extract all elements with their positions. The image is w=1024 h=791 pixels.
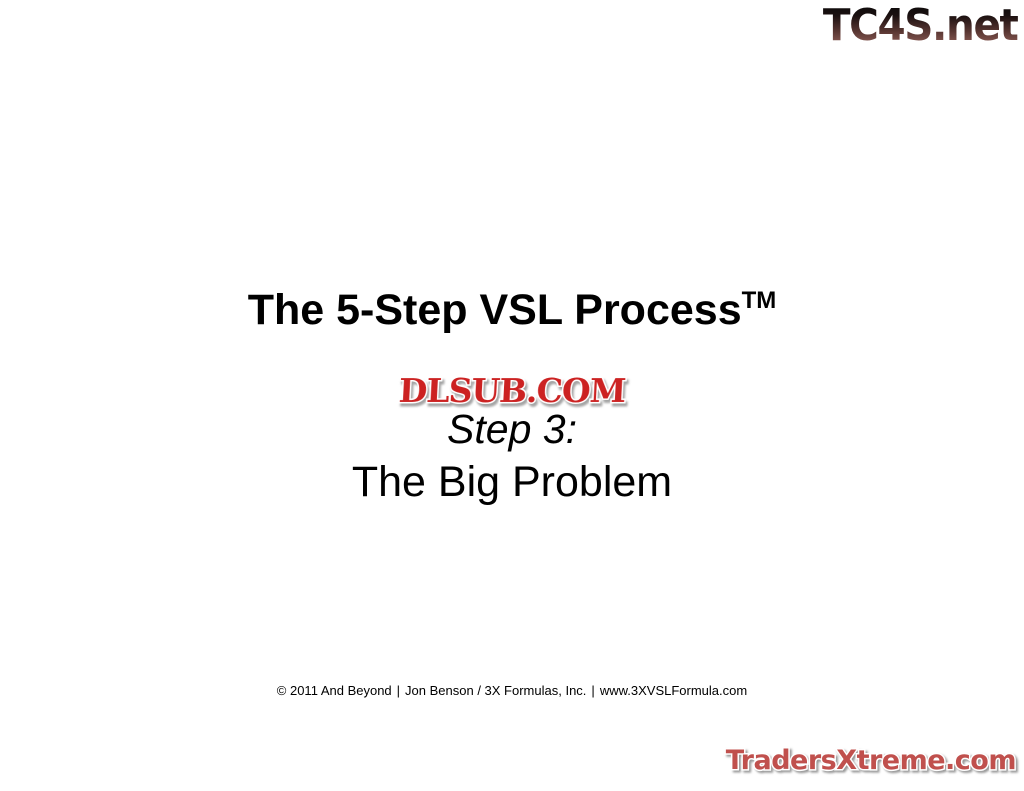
trademark-symbol: TM (742, 287, 777, 314)
tc4s-watermark: TC4S.net (823, 2, 1018, 50)
footer-website: www.3XVSLFormula.com (600, 683, 747, 698)
footer-separator-2: | (586, 683, 599, 698)
subtitle-step-label: Step 3: (0, 403, 1024, 455)
footer-separator-1: | (392, 683, 405, 698)
footer-copyright: © 2011 And Beyond (277, 683, 392, 698)
subtitle-block: Step 3: The Big Problem (0, 403, 1024, 509)
presentation-slide: TC4S.net The 5-Step VSL ProcessTM DLSUB.… (0, 0, 1024, 791)
footer-credit-line: © 2011 And Beyond|Jon Benson / 3X Formul… (0, 682, 1024, 699)
tradersxtreme-watermark: TradersXtreme.com (726, 745, 1016, 777)
page-title: The 5-Step VSL ProcessTM (0, 276, 1024, 335)
footer-author: Jon Benson / 3X Formulas, Inc. (405, 683, 586, 698)
page-title-text: The 5-Step VSL Process (248, 286, 742, 334)
subtitle-headline: The Big Problem (0, 455, 1024, 509)
